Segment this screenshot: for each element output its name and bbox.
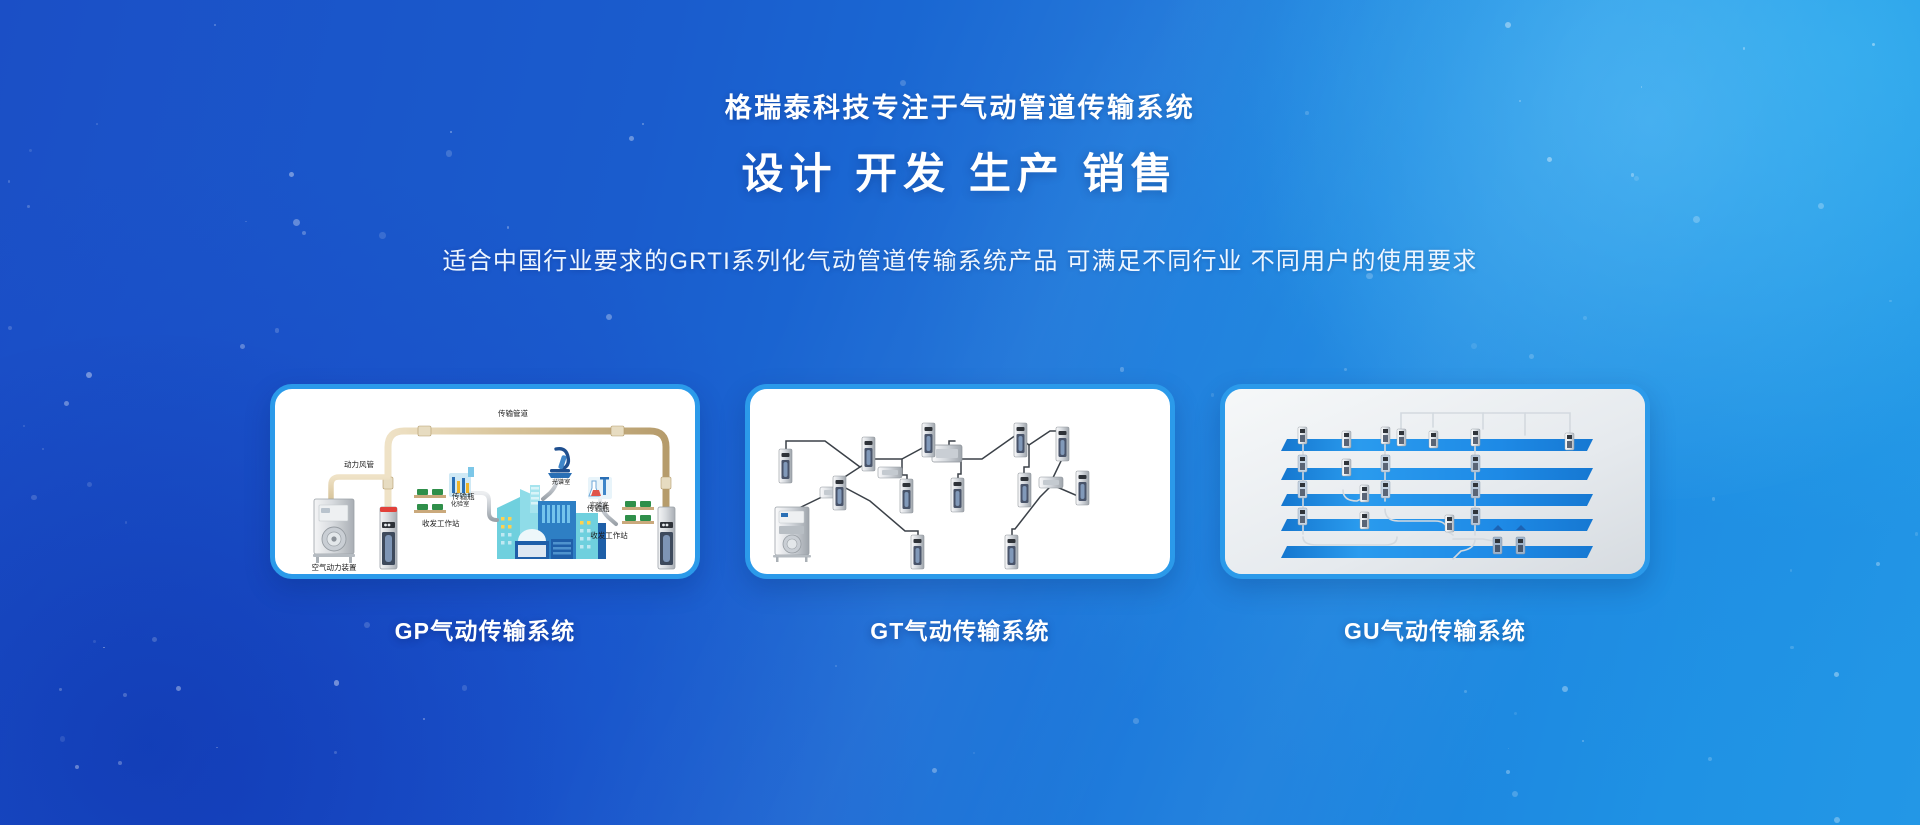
card-label-gt: GT气动传输系统 [870,612,1050,646]
label-station-right: 收发工作站 [590,530,628,540]
card-image-gt[interactable] [745,384,1175,579]
product-card-gt[interactable]: GT气动传输系统 [745,384,1175,646]
experiment-lab-icon [588,477,612,499]
gt-blower-unit [773,507,811,562]
label-chemistry-lab: 化验室 [451,500,470,508]
label-experiment-lab: 实验室 [590,501,609,509]
gp-diagram: 传输管道 动力风管 空气动力装置 传输瓶 收发工作站 传输瓶 收发工作站 化验室… [275,389,695,575]
spectrum-lab-icon [548,449,572,478]
send-receive-station-left [380,507,397,569]
pipe-couplings [383,426,671,489]
hero-headline: 设计 开发 生产 销售 [0,149,1920,199]
card-image-gp[interactable]: 传输管道 动力风管 空气动力装置 传输瓶 收发工作站 传输瓶 收发工作站 化验室… [270,384,700,579]
label-station-left: 收发工作站 [422,518,460,528]
card-label-gu: GU气动传输系统 [1344,612,1526,646]
carrier-rack-left [414,489,446,513]
hero-subtitle: 适合中国行业要求的GRTI系列化气动管道传输系统产品 可满足不同行业 不同用户的… [0,241,1920,276]
product-card-gu[interactable]: GU气动传输系统 [1220,384,1650,646]
send-receive-station-right [658,507,675,569]
gt-diagram [750,389,1170,575]
hero-kicker: 格瑞泰科技专注于气动管道传输系统 [0,92,1920,124]
label-air-power-unit: 空气动力装置 [312,562,357,572]
label-transport-pipeline: 传输管道 [498,408,528,418]
air-power-unit [313,499,355,563]
gu-diagram [1225,389,1645,575]
label-carrier-left: 传输瓶 [452,491,475,501]
card-label-gp: GP气动传输系统 [395,612,576,646]
product-card-gp[interactable]: 传输管道 动力风管 空气动力装置 传输瓶 收发工作站 传输瓶 收发工作站 化验室… [270,384,700,646]
product-card-row: 传输管道 动力风管 空气动力装置 传输瓶 收发工作站 传输瓶 收发工作站 化验室… [0,384,1920,646]
label-power-air-duct: 动力风管 [344,459,374,469]
label-spectrum-lab: 光谱室 [552,478,571,486]
card-image-gu[interactable] [1220,384,1650,579]
headline-block: 格瑞泰科技专注于气动管道传输系统 设计 开发 生产 销售 [0,92,1920,200]
carrier-rack-right [622,501,654,524]
hero-banner: 格瑞泰科技专注于气动管道传输系统 设计 开发 生产 销售 适合中国行业要求的GR… [0,0,1920,825]
